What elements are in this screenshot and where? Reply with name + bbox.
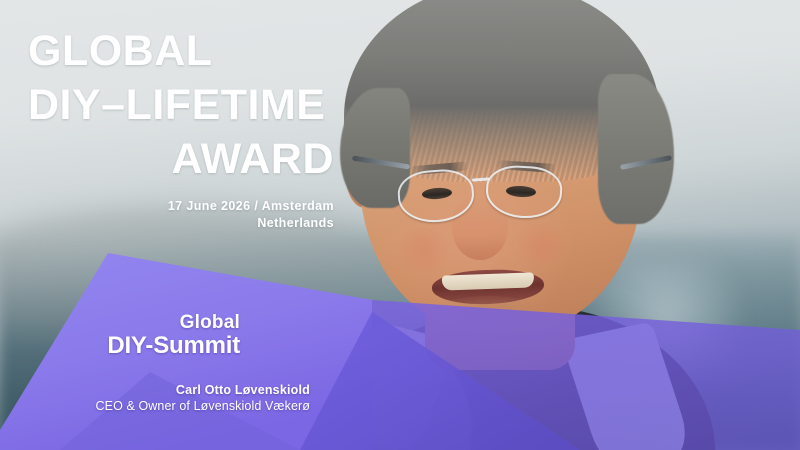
event-info-block: 17 June 2026 / Amsterdam Netherlands (0, 198, 348, 232)
event-date-location: 17 June 2026 / Amsterdam (0, 198, 334, 215)
portrait-chin (422, 296, 554, 344)
portrait-cheek-right (512, 224, 572, 268)
event-country: Netherlands (0, 215, 334, 232)
headline-block: GLOBAL DIY–LIFETIME AWARD 17 June 2026 /… (0, 24, 348, 232)
portrait-teeth (442, 272, 534, 290)
headline-line-2: DIY–LIFETIME (0, 78, 348, 132)
headline-line-3: AWARD (0, 132, 348, 186)
portrait-hair-right (598, 74, 674, 224)
award-title-slide: GLOBAL DIY–LIFETIME AWARD 17 June 2026 /… (0, 0, 800, 450)
portrait-cheek-left (394, 228, 454, 272)
headline-line-1: GLOBAL (0, 24, 348, 78)
speaker-portrait-photo (300, 0, 700, 450)
